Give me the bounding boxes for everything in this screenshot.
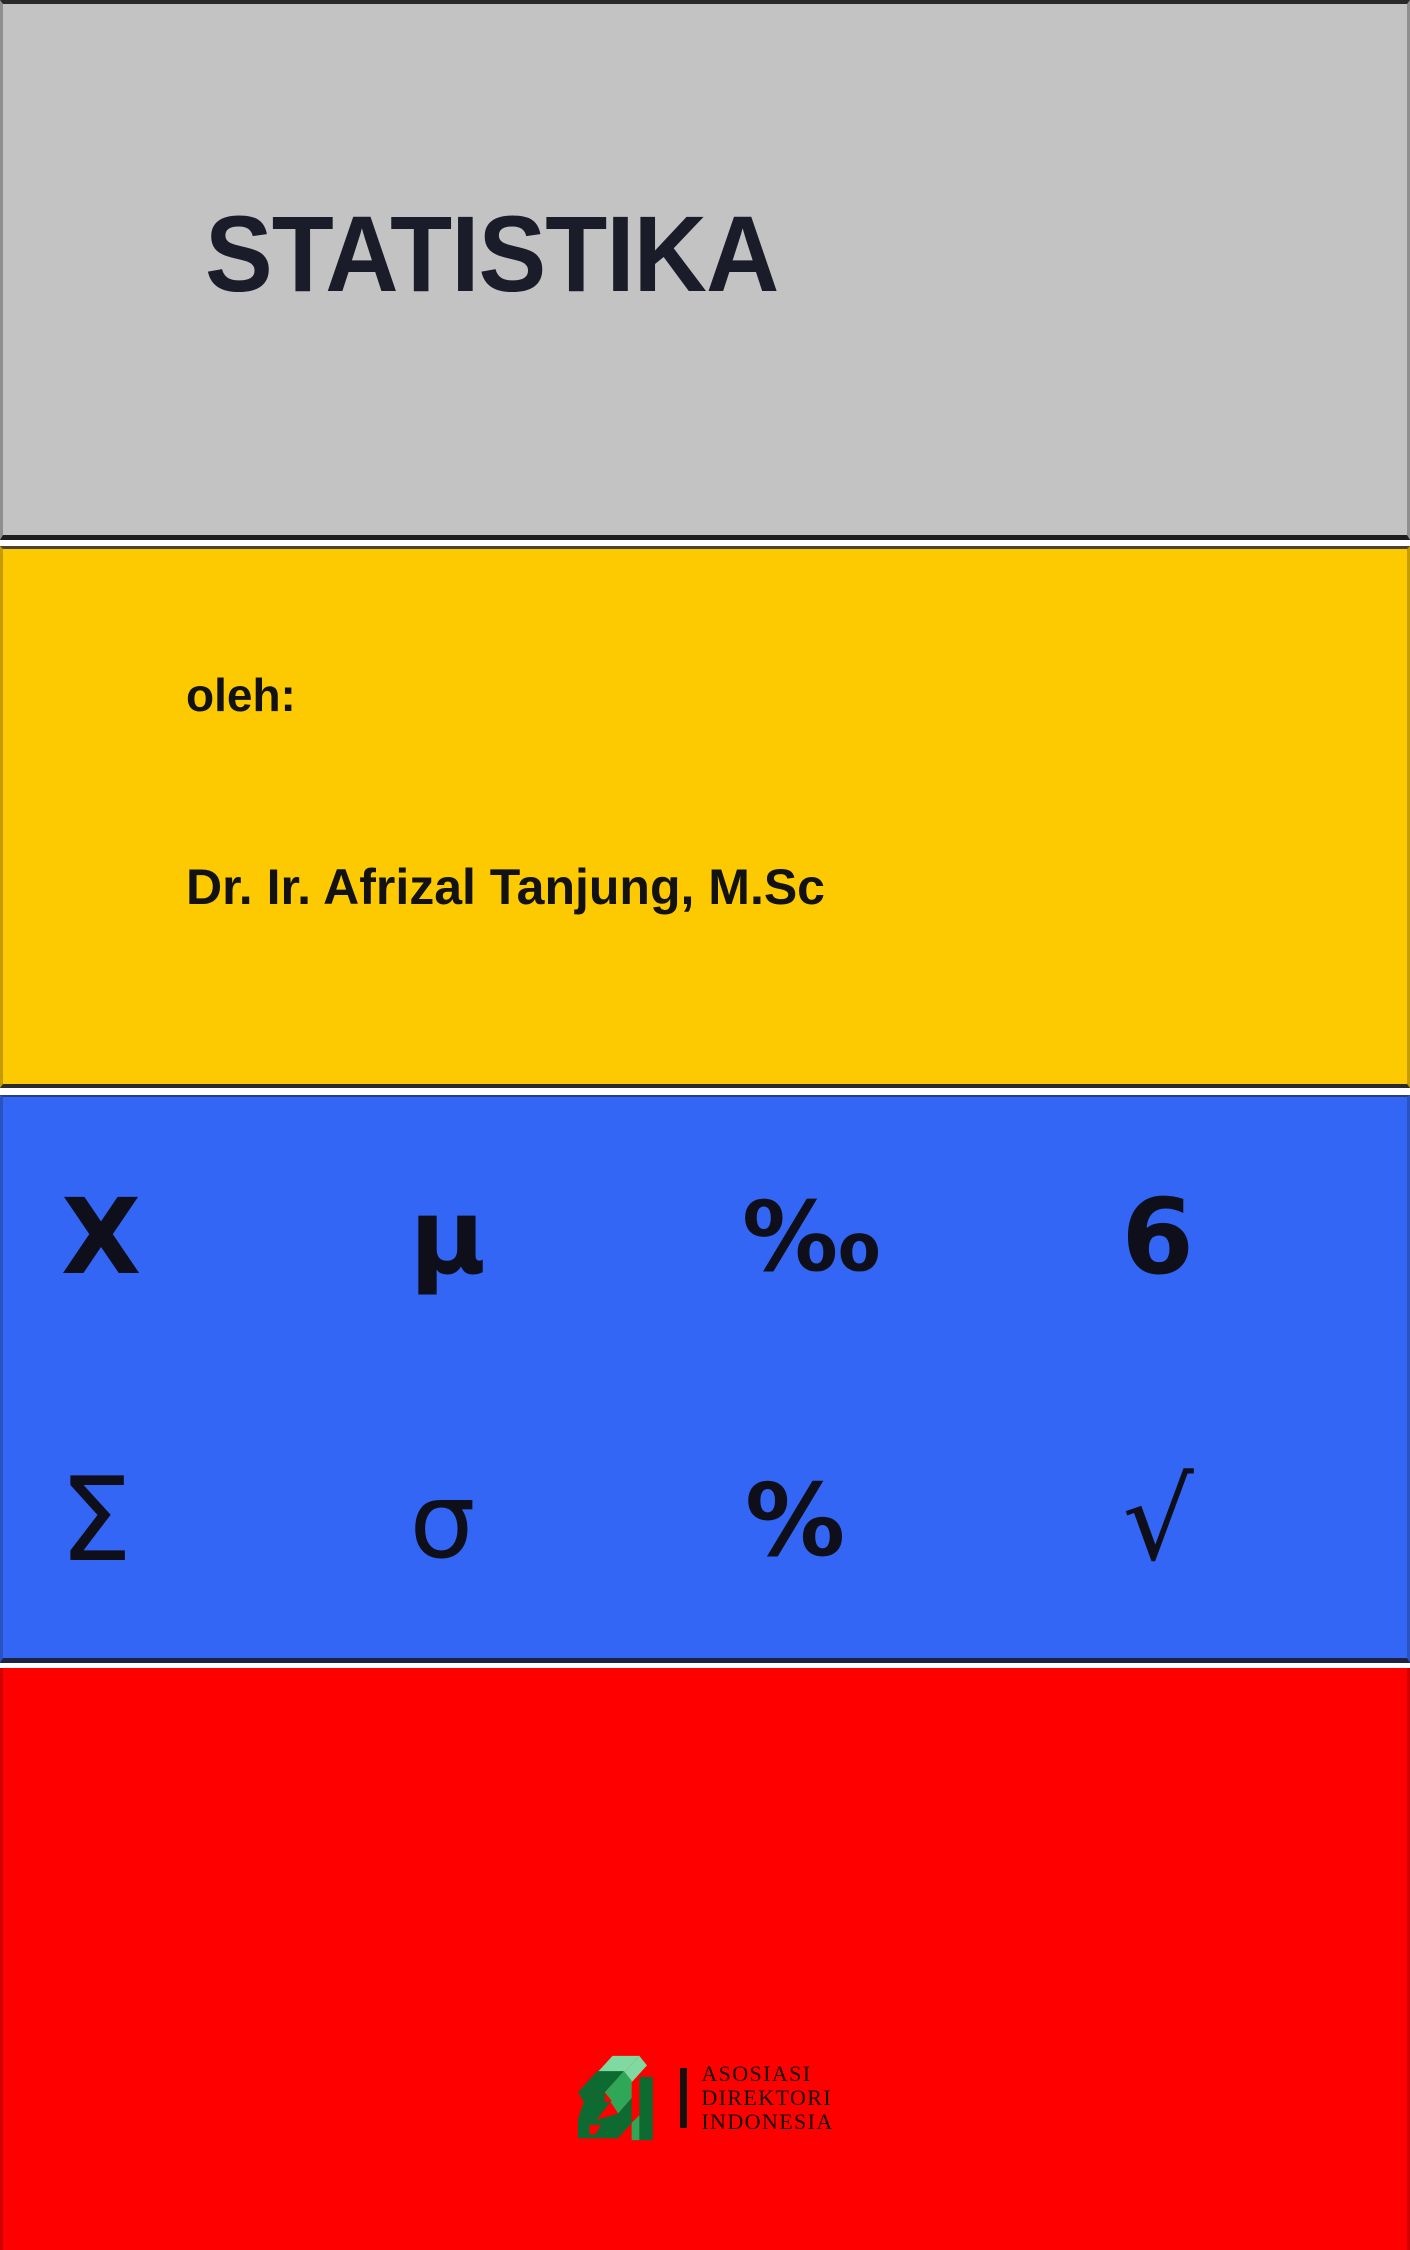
asosiasi-direktori-indonesia-logo-icon [576, 2052, 672, 2144]
publisher-band [0, 1668, 1410, 2250]
logo-divider-rule [680, 2068, 687, 2128]
wordmark-line-3: INDONESIA [701, 2110, 833, 2134]
page-title: STATISTIKA [205, 200, 778, 308]
book-cover: STATISTIKA oleh: Dr. Ir. Afrizal Tanjung… [0, 0, 1410, 2250]
publisher-logo: ASOSIASI DIREKTORI INDONESIA [0, 2052, 1410, 2144]
wordmark-line-1: ASOSIASI [701, 2062, 833, 2086]
author-name: Dr. Ir. Afrizal Tanjung, M.Sc [186, 862, 825, 912]
author-band [0, 546, 1410, 1088]
wordmark-line-2: DIREKTORI [701, 2086, 833, 2110]
symbols-band [0, 1095, 1410, 1663]
publisher-wordmark: ASOSIASI DIREKTORI INDONESIA [701, 2062, 833, 2133]
byline-label: oleh: [186, 672, 296, 718]
